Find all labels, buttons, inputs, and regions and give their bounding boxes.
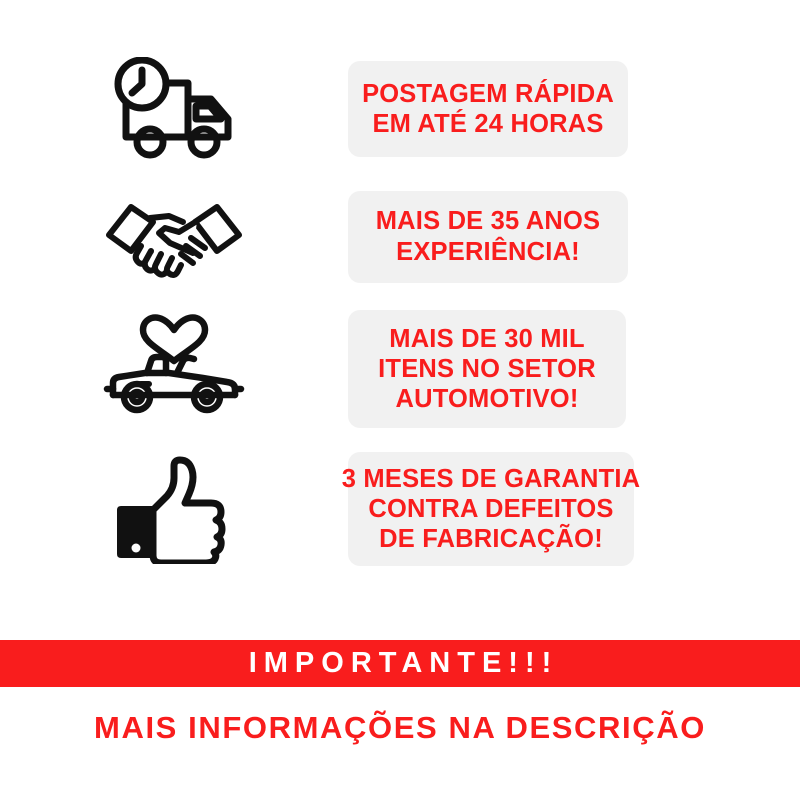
handshake-icon: [0, 191, 348, 283]
benefit-line: 3 MESES DE GARANTIA: [342, 464, 641, 494]
benefit-line: MAIS DE 30 MIL: [389, 324, 585, 354]
benefit-item-warranty: 3 MESES DE GARANTIA CONTRA DEFEITOS DE F…: [0, 439, 800, 579]
benefit-line: EM ATÉ 24 HORAS: [372, 109, 603, 139]
benefit-line: POSTAGEM RÁPIDA: [362, 79, 614, 109]
description-note: MAIS INFORMAÇÕES NA DESCRIÇÃO: [0, 700, 800, 756]
important-strip: IMPORTANTE!!!: [0, 640, 800, 687]
benefits-list: POSTAGEM RÁPIDA EM ATÉ 24 HORAS: [0, 0, 800, 630]
car-heart-icon: [0, 309, 348, 429]
benefit-text-card: POSTAGEM RÁPIDA EM ATÉ 24 HORAS: [348, 61, 628, 157]
benefit-text-card: MAIS DE 30 MIL ITENS NO SETOR AUTOMOTIVO…: [348, 310, 626, 428]
thumbs-up-icon: [0, 454, 348, 564]
benefit-line: EXPERIÊNCIA!: [396, 237, 580, 267]
benefit-item-fast-shipping: POSTAGEM RÁPIDA EM ATÉ 24 HORAS: [0, 44, 800, 174]
promotional-banner: POSTAGEM RÁPIDA EM ATÉ 24 HORAS: [0, 0, 800, 800]
benefit-line: DE FABRICAÇÃO!: [379, 524, 603, 554]
description-label: MAIS INFORMAÇÕES NA DESCRIÇÃO: [94, 710, 706, 746]
benefit-line: ITENS NO SETOR: [378, 354, 596, 384]
delivery-truck-clock-icon: [0, 57, 348, 161]
important-label: IMPORTANTE!!!: [242, 647, 559, 680]
benefit-item-experience: MAIS DE 35 ANOS EXPERIÊNCIA!: [0, 174, 800, 299]
benefit-line: CONTRA DEFEITOS: [368, 494, 613, 524]
benefit-text-card: MAIS DE 35 ANOS EXPERIÊNCIA!: [348, 191, 628, 283]
benefit-item-automotive-items: MAIS DE 30 MIL ITENS NO SETOR AUTOMOTIVO…: [0, 299, 800, 439]
benefit-line: AUTOMOTIVO!: [395, 384, 578, 414]
benefit-text-card: 3 MESES DE GARANTIA CONTRA DEFEITOS DE F…: [348, 452, 634, 566]
benefit-line: MAIS DE 35 ANOS: [376, 206, 601, 236]
